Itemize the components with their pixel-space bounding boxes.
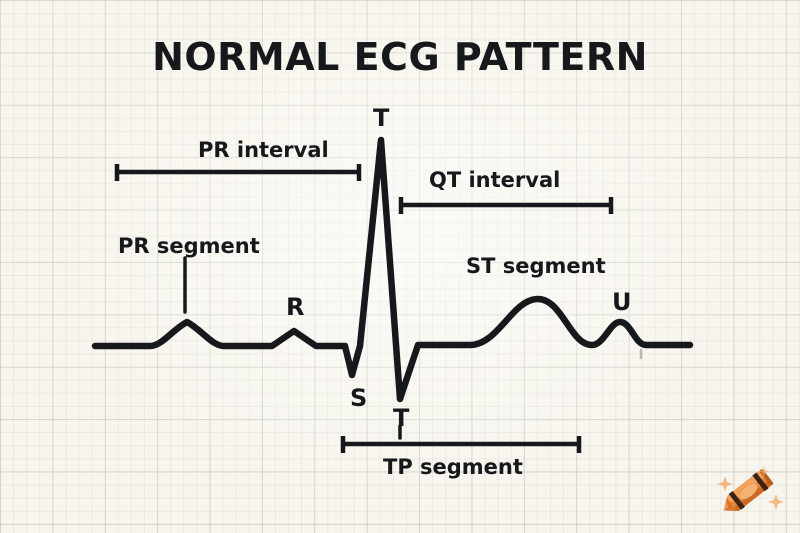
pr-segment-label: PR segment [118, 234, 260, 258]
wave-label-u: U [612, 288, 632, 316]
qt-interval-label: QT interval [429, 168, 560, 192]
st-segment-label: ST segment [466, 254, 606, 278]
pr-interval-label: PR interval [198, 138, 329, 162]
wave-label-t-top: T [373, 104, 389, 132]
qt-interval-bar [400, 197, 612, 214]
wave-label-t-bottom: T [393, 404, 409, 432]
tp-segment-label: TP segment [383, 455, 523, 479]
tp-segment-bar [342, 436, 580, 453]
wave-label-r: R [286, 293, 304, 321]
wave-label-s: S [350, 384, 367, 412]
pr-interval-bar [116, 164, 360, 181]
ecg-diagram: NORMAL ECG PATTERN PR interval [0, 0, 800, 533]
ecg-waveform-svg [0, 0, 800, 533]
crayon-icon [712, 458, 788, 526]
